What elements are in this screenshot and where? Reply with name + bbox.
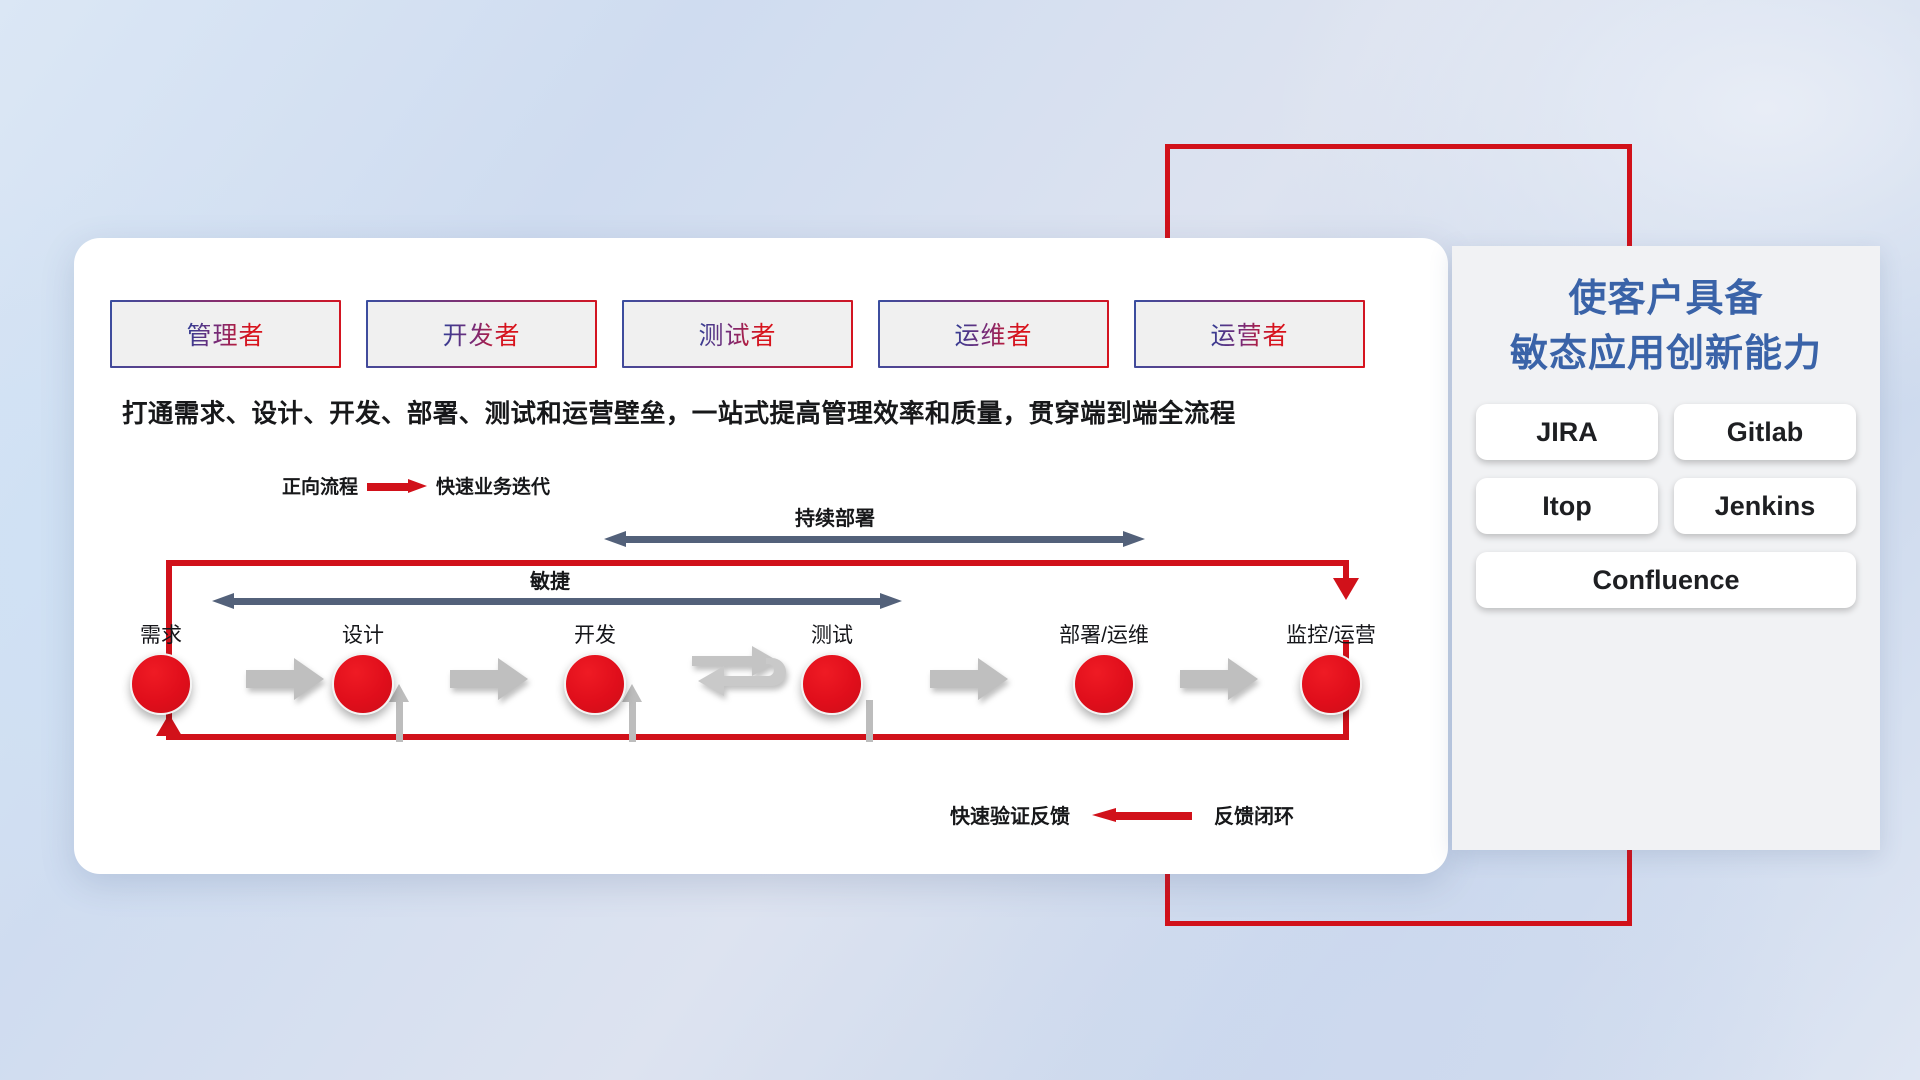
flow-node-label: 需求 — [96, 619, 226, 649]
role-box-tester[interactable]: 测试者 — [622, 300, 853, 368]
arrow-left-slate-continuous-deployment-icon — [604, 531, 1145, 547]
arrow-left-red-icon — [1092, 808, 1192, 822]
role-label: 运营者 — [1210, 316, 1288, 352]
flow-node-label: 开发 — [530, 619, 660, 649]
loop-arrowhead-up-icon — [156, 714, 182, 736]
tools-panel-heading-line2: 敏态应用创新能力 — [1452, 327, 1880, 382]
tools-panel: 使客户具备 敏态应用创新能力 JIRA Gitlab Itop Jenkins … — [1452, 246, 1880, 850]
role-label: 测试者 — [698, 316, 776, 352]
flow-node-label: 部署/运维 — [1039, 619, 1169, 649]
outer-bracket-left-top — [1165, 144, 1170, 249]
arrow-gray-test-to-deploy-icon — [930, 656, 1008, 702]
role-box-inner: 运营者 — [1136, 302, 1363, 366]
legend-feedback-loop: 快速验证反馈 反馈闭环 — [950, 800, 1294, 829]
flow-node-dot — [564, 653, 626, 715]
legend-forward-target-label: 快速业务迭代 — [436, 472, 550, 499]
legend-forward-source-label: 正向流程 — [282, 472, 358, 499]
role-label: 管理者 — [186, 316, 264, 352]
role-box-inner: 管理者 — [112, 302, 339, 366]
arrow-gray-requirement-to-design-icon — [246, 656, 324, 702]
outer-bracket-bottom — [1165, 921, 1632, 926]
flow-node-dot — [130, 653, 192, 715]
flow-node-develop[interactable]: 开发 — [530, 619, 660, 715]
flow-node-dot — [801, 653, 863, 715]
role-box-developer[interactable]: 开发者 — [366, 300, 597, 368]
arrow-gray-design-to-develop-icon — [450, 656, 528, 702]
loop-arrowhead-down-icon — [1333, 578, 1359, 600]
arrow-double-slate-agile-icon — [212, 593, 902, 609]
role-box-inner: 运维者 — [880, 302, 1107, 366]
role-label: 运维者 — [954, 316, 1032, 352]
loop-path-bottom — [166, 734, 1349, 740]
loop-path-top — [166, 560, 1349, 566]
flow-node-dot — [1300, 653, 1362, 715]
flow-node-dot — [1073, 653, 1135, 715]
tool-chip-jira[interactable]: JIRA — [1476, 404, 1658, 460]
role-box-operations[interactable]: 运营者 — [1134, 300, 1365, 368]
legend-forward-flow: 正向流程 快速业务迭代 — [282, 472, 550, 499]
flow-node-deploy-ops[interactable]: 部署/运维 — [1039, 619, 1169, 715]
arrow-right-red-icon — [367, 479, 427, 493]
tool-chip-confluence[interactable]: Confluence — [1476, 552, 1856, 608]
span-label-continuous-deployment: 持续部署 — [795, 502, 875, 531]
role-box-manager[interactable]: 管理者 — [110, 300, 341, 368]
outer-bracket-top — [1165, 144, 1632, 149]
role-box-inner: 开发者 — [368, 302, 595, 366]
tools-panel-heading: 使客户具备 敏态应用创新能力 — [1452, 246, 1880, 382]
tool-chip-grid: JIRA Gitlab Itop Jenkins Confluence — [1468, 404, 1864, 608]
flow-node-dot — [332, 653, 394, 715]
tools-panel-heading-line1: 使客户具备 — [1452, 272, 1880, 327]
flow-node-label: 监控/运营 — [1266, 619, 1396, 649]
role-box-row: 管理者 开发者 测试者 运维者 运营者 — [110, 300, 1365, 368]
flow-node-monitor-operate[interactable]: 监控/运营 — [1266, 619, 1396, 715]
role-box-ops[interactable]: 运维者 — [878, 300, 1109, 368]
legend-feedback-target-label: 快速验证反馈 — [950, 800, 1070, 829]
arrow-gray-deploy-to-monitor-icon — [1180, 656, 1258, 702]
legend-feedback-source-label: 反馈闭环 — [1214, 800, 1294, 829]
flow-node-requirement[interactable]: 需求 — [96, 619, 226, 715]
tool-chip-gitlab[interactable]: Gitlab — [1674, 404, 1856, 460]
slide-canvas: 管理者 开发者 测试者 运维者 运营者 打通需求、设计、开发、部署、测试和运营壁… — [0, 0, 1920, 1080]
span-label-agile: 敏捷 — [530, 565, 570, 594]
arrow-gray-cycle-develop-test-icon — [690, 644, 790, 714]
role-box-inner: 测试者 — [624, 302, 851, 366]
tool-chip-itop[interactable]: Itop — [1476, 478, 1658, 534]
flow-node-label: 设计 — [298, 619, 428, 649]
role-label: 开发者 — [442, 316, 520, 352]
tool-chip-jenkins[interactable]: Jenkins — [1674, 478, 1856, 534]
headline-text: 打通需求、设计、开发、部署、测试和运营壁垒，一站式提高管理效率和质量，贯穿端到端… — [122, 393, 1422, 430]
